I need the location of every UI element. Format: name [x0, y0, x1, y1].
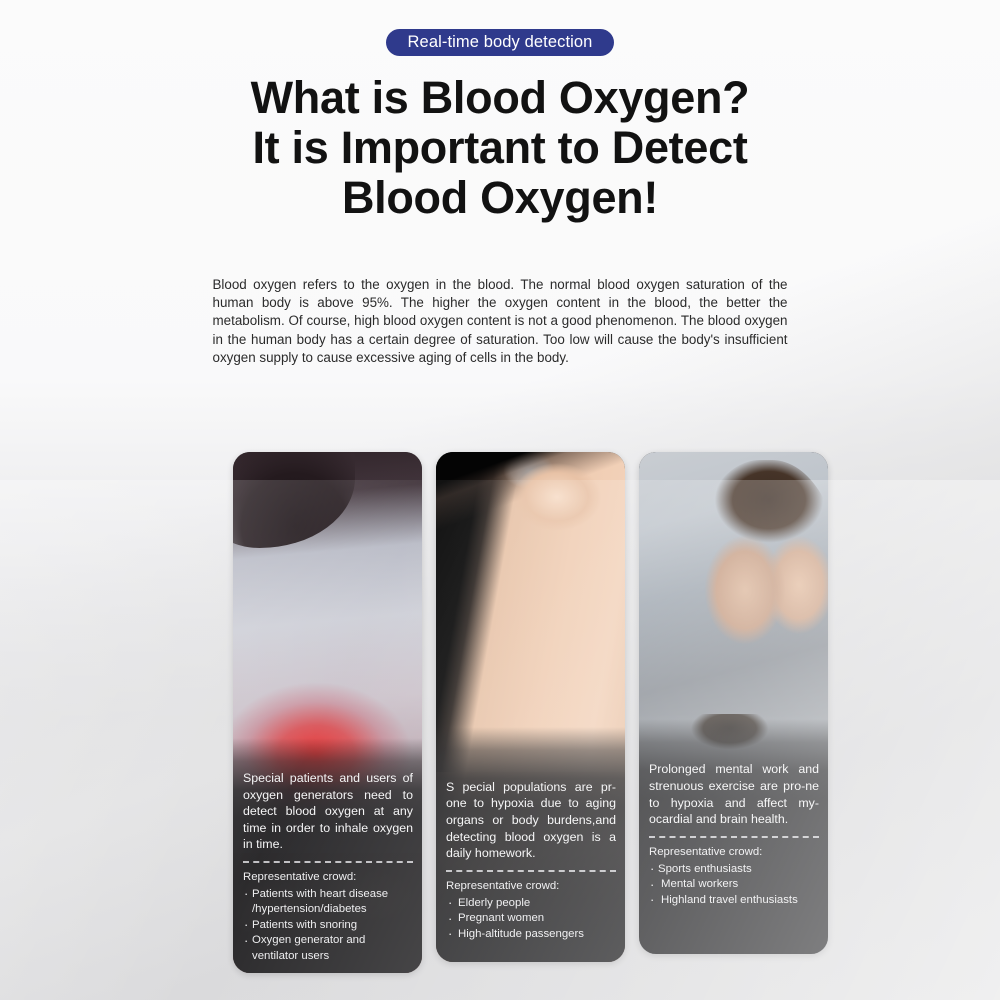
badge-row: Real-time body detection — [0, 0, 1000, 56]
crowd-title: Representative crowd: — [649, 845, 819, 860]
intro-paragraph-wrapper: Blood oxygen refers to the oxygen in the… — [0, 276, 1000, 367]
card-lede: Prolonged mental work and strenuous exer… — [649, 761, 819, 827]
page-title: What is Blood Oxygen? It is Important to… — [0, 73, 1000, 223]
list-item: Elderly people — [446, 896, 616, 911]
crowd-title: Representative crowd: — [446, 879, 616, 894]
info-card: Special patients and users of oxygen gen… — [233, 452, 422, 973]
crowd-list: Sports enthusiasts Mental workers Highla… — [649, 862, 819, 908]
card-text-block: Special patients and users of oxygen gen… — [243, 770, 413, 964]
page-title-line-1: What is Blood Oxygen? — [0, 73, 1000, 123]
card-text-block: Prolonged mental work and strenuous exer… — [649, 761, 819, 908]
card-divider — [649, 836, 819, 838]
card-lede: S pecial populations are pr-one to hypox… — [446, 779, 616, 862]
card-lede: Special patients and users of oxygen gen… — [243, 770, 413, 853]
page-content: Real-time body detection What is Blood O… — [0, 0, 1000, 367]
list-item: Oxygen generator and ventilator users — [243, 933, 413, 964]
list-item: High-altitude passengers — [446, 927, 616, 942]
list-item: Sports enthusiasts — [649, 862, 819, 877]
list-item: Mental workers — [649, 877, 819, 892]
status-badge: Real-time body detection — [386, 29, 615, 56]
page-title-line-2: It is Important to Detect — [0, 123, 1000, 173]
crowd-list: Elderly people Pregnant women High-altit… — [446, 896, 616, 942]
page-root: Real-time body detection What is Blood O… — [0, 0, 1000, 1000]
page-title-line-3: Blood Oxygen! — [0, 173, 1000, 223]
card-divider — [243, 861, 413, 863]
info-card: S pecial populations are pr-one to hypox… — [436, 452, 625, 962]
crowd-title: Representative crowd: — [243, 870, 413, 885]
crowd-list: Patients with heart disease /hypertensio… — [243, 887, 413, 964]
list-item: Highland travel enthusiasts — [649, 893, 819, 908]
intro-paragraph: Blood oxygen refers to the oxygen in the… — [213, 276, 788, 367]
list-item: Pregnant women — [446, 911, 616, 926]
info-card: Prolonged mental work and strenuous exer… — [639, 452, 828, 954]
list-item: Patients with heart disease /hypertensio… — [243, 887, 413, 918]
list-item: Patients with snoring — [243, 918, 413, 933]
card-divider — [446, 870, 616, 872]
info-card-row: Special patients and users of oxygen gen… — [233, 452, 829, 973]
card-text-block: S pecial populations are pr-one to hypox… — [446, 779, 616, 942]
